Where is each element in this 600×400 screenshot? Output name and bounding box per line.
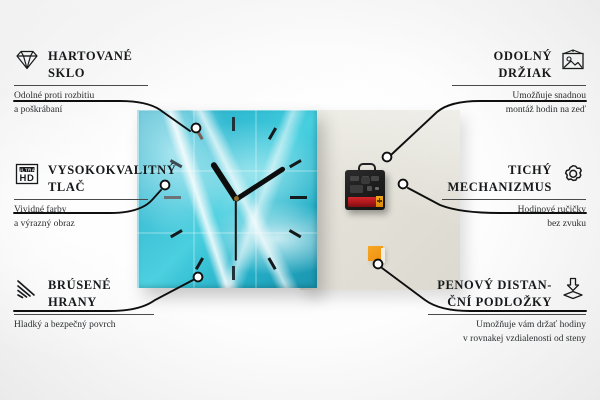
picture-frame-icon: [560, 48, 586, 72]
feature-head: ultra HD VYSOKOKVALITNÝ TLAČ: [14, 162, 148, 195]
feature-divider: [428, 314, 586, 315]
spacer-arrow-icon: [560, 277, 586, 301]
feature-high-quality-print: ultra HD VYSOKOKVALITNÝ TLAČ Vividné far…: [14, 162, 148, 232]
feature-description: Umožňuje snadnou montáž hodin na zeď: [452, 90, 586, 118]
polished-edges-icon: [14, 277, 40, 301]
mount-node: [383, 153, 392, 162]
feature-title: TICHÝ MECHANIZMUS: [447, 162, 552, 195]
feature-head: BRÚSENÉ HRANY: [14, 277, 154, 310]
feature-description: Umožňuje vám držať hodiny v rovnakej vzd…: [428, 319, 586, 347]
ultra-hd-icon: ultra HD: [14, 162, 40, 186]
diamond-icon: [14, 48, 40, 72]
glass-node: [192, 124, 201, 133]
feature-description: Vividné farby a výrazný obraz: [14, 204, 148, 232]
feature-head: TICHÝ MECHANIZMUS: [442, 162, 586, 195]
feature-divider: [452, 85, 586, 86]
feature-head: HARTOVANÉ SKLO: [14, 48, 148, 81]
mechanism-node: [399, 180, 408, 189]
feature-durable-mount: ODOLNÝ DRŽIAK Umožňuje snadnou montáž ho…: [452, 48, 586, 118]
feature-head: PENOVÝ DISTAN- ČNÍ PODLOŽKY: [428, 277, 586, 310]
feature-description: Hladký a bezpečný povrch: [14, 319, 154, 333]
edges-node: [194, 273, 203, 282]
feature-divider: [14, 314, 154, 315]
product-infographic: HARTOVANÉ SKLO Odolné proti rozbitiu a p…: [0, 0, 600, 400]
feature-divider: [14, 85, 148, 86]
feature-silent-mechanism: TICHÝ MECHANIZMUS Hodinové ručičky bez z…: [442, 162, 586, 232]
svg-text:HD: HD: [20, 173, 35, 184]
feature-foam-spacers: PENOVÝ DISTAN- ČNÍ PODLOŽKY Umožňuje vám…: [428, 277, 586, 347]
feature-description: Hodinové ručičky bez zvuku: [442, 204, 586, 232]
feature-divider: [442, 199, 586, 200]
feature-title: ODOLNÝ DRŽIAK: [494, 48, 552, 81]
svg-text:ultra: ultra: [19, 167, 36, 172]
feature-title: VYSOKOKVALITNÝ TLAČ: [48, 162, 176, 195]
feature-head: ODOLNÝ DRŽIAK: [452, 48, 586, 81]
foam-node: [374, 260, 383, 269]
feature-title: BRÚSENÉ HRANY: [48, 277, 111, 310]
feature-title: PENOVÝ DISTAN- ČNÍ PODLOŽKY: [437, 277, 552, 310]
gear-icon: [560, 162, 586, 186]
feature-polished-edges: BRÚSENÉ HRANY Hladký a bezpečný povrch: [14, 277, 154, 333]
feature-description: Odolné proti rozbitiu a poškrábaní: [14, 90, 148, 118]
feature-tempered-glass: HARTOVANÉ SKLO Odolné proti rozbitiu a p…: [14, 48, 148, 118]
feature-title: HARTOVANÉ SKLO: [48, 48, 132, 81]
clock-hands-hub: [234, 196, 239, 201]
feature-divider: [14, 199, 148, 200]
